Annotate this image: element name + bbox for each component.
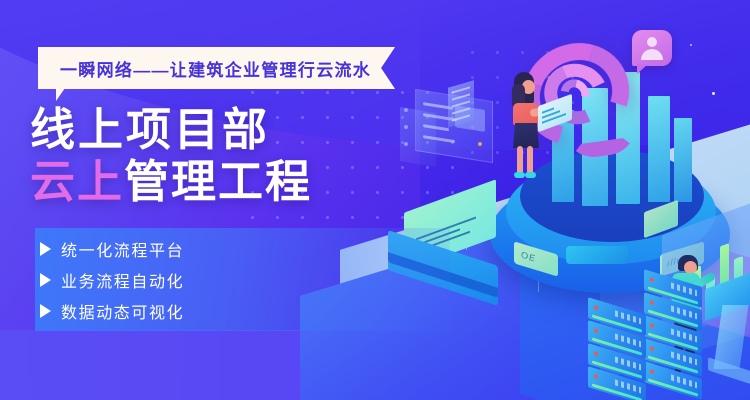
skirt: [513, 123, 539, 148]
user-head-icon: [647, 37, 657, 47]
tagline-ribbon: 一瞬网络——让建筑企业管理行云流水: [38, 47, 395, 89]
feature-list: 统一化流程平台 业务流程自动化 数据动态可视化: [40, 234, 360, 327]
leg: [517, 146, 523, 174]
triangle-right-icon: [40, 273, 51, 287]
triangle-right-icon: [40, 242, 51, 256]
platform-pod-center: [566, 246, 628, 264]
server-rack-front: [588, 306, 646, 398]
platform-tower: [674, 118, 692, 202]
shoe: [514, 172, 525, 178]
pod-label: OE: [521, 249, 536, 264]
list-item: 数据动态可视化: [40, 296, 360, 326]
platform-tower: [648, 96, 670, 202]
list-item: 统一化流程平台: [40, 234, 360, 264]
triangle-right-icon: [40, 304, 51, 318]
server-rack-back: [644, 278, 702, 393]
tagline-ribbon-tail: [56, 88, 65, 101]
headline-accent: 云上: [30, 156, 124, 207]
speech-bubble-user-icon: [632, 30, 672, 66]
leg: [527, 146, 533, 174]
woman-with-tablet: [500, 72, 556, 182]
list-item-label: 统一化流程平台: [61, 237, 184, 261]
user-body-icon: [641, 49, 663, 60]
list-item-label: 业务流程自动化: [61, 268, 184, 292]
list-item: 业务流程自动化: [40, 265, 360, 295]
list-item-label: 数据动态可视化: [61, 299, 184, 323]
server-racks: [588, 278, 714, 400]
shoe: [525, 172, 536, 178]
platform-pod-left: OE: [514, 241, 558, 276]
page-title: 线上项目部 云上管理工程: [30, 104, 430, 208]
headline-line-2: 云上管理工程: [30, 156, 430, 208]
tagline-text: 一瞬网络——让建筑企业管理行云流水: [60, 56, 371, 81]
headline-line-1: 线上项目部: [30, 104, 430, 156]
promo-banner: OE ıllı: [0, 0, 750, 400]
headline-rest: 管理工程: [124, 156, 312, 207]
